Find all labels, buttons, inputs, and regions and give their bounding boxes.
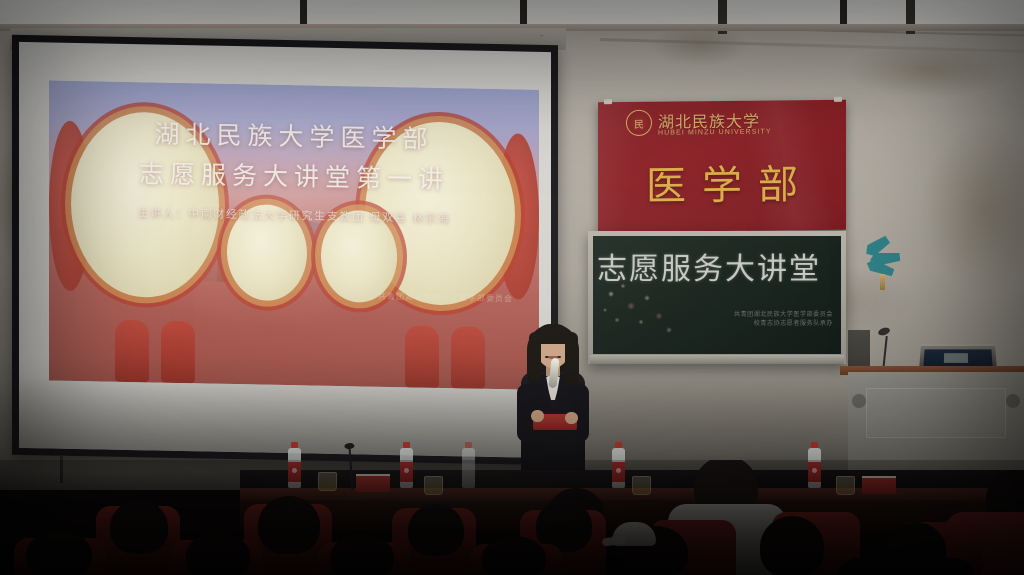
bottle-cap: [291, 442, 298, 448]
chalk-flower-drawing: [597, 276, 693, 346]
chalk-tray: [590, 355, 844, 364]
audience-white-cap: [612, 522, 656, 546]
blackboard-note-line-1: 共青团湖北民族大学医学部委员会: [734, 310, 833, 319]
projector-screen-frame: 湖北民族大学医学部 志愿服务大讲堂第一讲 主讲人：中南财经政法大学研究生支教团 …: [12, 35, 558, 465]
paper-ornament-icon: [860, 238, 904, 290]
blackboard: 志愿服务大讲堂 共青团湖北民族大学医学部委员会 校青志协志愿者服务队承办: [593, 236, 841, 354]
laptop-screen-glow: [944, 353, 967, 363]
ornament-tassel: [880, 274, 885, 290]
blackboard-frame: 志愿服务大讲堂 共青团湖北民族大学医学部委员会 校青志协志愿者服务队承办: [588, 231, 846, 364]
podium-front-panel: [866, 388, 1006, 438]
projector-screen-surface: 湖北民族大学医学部 志愿服务大讲堂第一讲 主讲人：中南财经政法大学研究生支教团 …: [19, 42, 551, 458]
bottle-cap: [615, 442, 622, 448]
blackboard-note-line-2: 校青志协志愿者服务队承办: [734, 319, 833, 328]
window-mullion: [300, 0, 307, 26]
audience-head: [186, 532, 250, 575]
window-mullion: [520, 0, 527, 26]
banner-university-name-en: HUBEI MINZU UNIVERSITY: [658, 128, 772, 136]
podium-knob: [1006, 394, 1020, 408]
banner-clip: [604, 99, 612, 104]
presenter-hair-side: [565, 332, 578, 386]
red-university-banner: 民 湖北民族大学 HUBEI MINZU UNIVERSITY 医学部: [598, 100, 846, 233]
audience-area: [0, 460, 1024, 575]
banner-clip: [834, 97, 842, 102]
lecture-hall-photo: ⌐ 湖北民族大学医学部 志愿服务大讲堂第一讲: [0, 0, 1024, 575]
slide-subtitle: 主讲人：中南财经政法大学研究生支教团 母双喜 林宗海: [49, 202, 539, 227]
presenter-hand: [531, 410, 544, 422]
slide-title-line-1: 湖北民族大学医学部: [49, 112, 539, 157]
university-logo-glyph: 民: [627, 116, 651, 131]
audience-head: [482, 536, 546, 575]
podium-knob: [852, 394, 866, 408]
bottle-cap: [403, 442, 410, 448]
presenter-hand: [565, 412, 578, 424]
slide-text-layer: 湖北民族大学医学部 志愿服务大讲堂第一讲 主讲人：中南财经政法大学研究生支教团 …: [49, 80, 539, 389]
presenter-hair-side: [529, 332, 541, 382]
bottle-cap: [811, 442, 818, 448]
slide-credit-line: 共青团湖北民族大学医学部委员会: [378, 291, 513, 305]
audience-head: [26, 530, 92, 575]
university-logo-icon: 民: [626, 110, 652, 136]
audience-shoulders: [836, 558, 976, 575]
audience-head: [110, 500, 168, 554]
projected-slide: 湖北民族大学医学部 志愿服务大讲堂第一讲 主讲人：中南财经政法大学研究生支教团 …: [49, 80, 539, 389]
window-mullion: [840, 0, 847, 26]
window-strip: [0, 0, 1024, 26]
banner-department-text: 医学部: [598, 152, 846, 213]
audience-head: [330, 534, 394, 575]
audience-head: [760, 516, 824, 575]
screen-brand-label: ⌐: [541, 33, 544, 39]
bottle-cap: [465, 442, 472, 448]
audience-head: [258, 496, 320, 554]
blackboard-note: 共青团湖北民族大学医学部委员会 校青志协志愿者服务队承办: [734, 310, 833, 328]
audience-head: [408, 504, 464, 556]
slide-title-line-2: 志愿服务大讲堂第一讲: [49, 152, 539, 197]
